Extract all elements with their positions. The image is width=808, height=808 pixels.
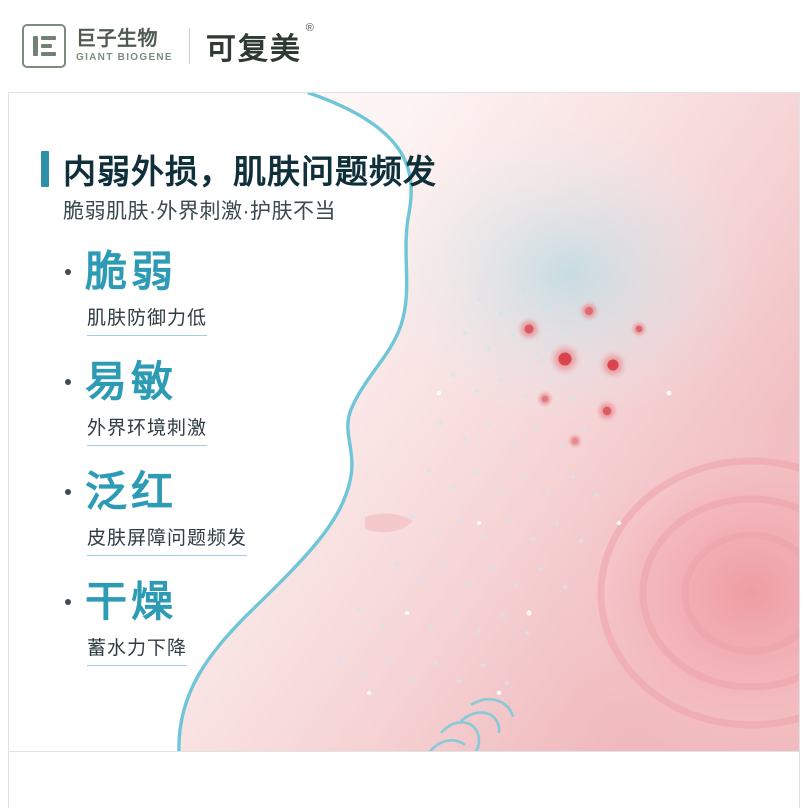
subheadline: 脆弱肌肤·外界刺激·护肤不当 <box>63 195 336 225</box>
list-item: 易敏 外界环境刺激 <box>63 361 483 443</box>
bullet-dot-icon <box>65 599 71 605</box>
bullet-dot-icon <box>65 269 71 275</box>
list-item-desc: 皮肤屏障问题频发 <box>87 523 247 556</box>
list-item: 脆弱 肌肤防御力低 <box>63 251 483 333</box>
trademark-symbol: ® <box>306 22 316 34</box>
list-item-title: 脆弱 <box>85 247 177 297</box>
list-item: 泛红 皮肤屏障问题频发 <box>63 471 483 553</box>
company-name-en: GIANT BIOGENE <box>76 53 173 63</box>
list-item: 干燥 蓄水力下降 <box>63 581 483 663</box>
company-name: 巨子生物 GIANT BIOGENE <box>76 29 173 63</box>
bullet-dot-icon <box>65 379 71 385</box>
poster-root: 巨子生物 GIANT BIOGENE 可复美 ® <box>0 0 808 808</box>
headline: 内弱外损，肌肤问题频发 <box>63 145 437 193</box>
product-brand-name-text: 可复美 <box>206 33 302 66</box>
list-item-desc: 外界环境刺激 <box>87 413 207 446</box>
list-item-title: 干燥 <box>85 577 177 627</box>
list-item-desc: 蓄水力下降 <box>87 633 187 666</box>
company-name-cn: 巨子生物 <box>76 29 173 49</box>
brand-lockup: 巨子生物 GIANT BIOGENE 可复美 ® <box>22 22 302 70</box>
brand-divider <box>189 28 190 64</box>
headline-row: 内弱外损，肌肤问题频发 <box>41 145 437 193</box>
content-frame-bottom-edge <box>8 752 800 808</box>
headline-accent-bar <box>41 151 49 187</box>
problem-list: 脆弱 肌肤防御力低 易敏 外界环境刺激 泛红 皮肤屏障问题频发 干燥 蓄水力下降 <box>63 251 483 691</box>
list-item-title: 易敏 <box>85 357 177 407</box>
list-item-title: 泛红 <box>85 467 177 517</box>
content-frame: 内弱外损，肌肤问题频发 脆弱肌肤·外界刺激·护肤不当 脆弱 肌肤防御力低 易敏 … <box>8 92 800 752</box>
giant-biogene-logo-mark-icon <box>22 24 66 68</box>
text-content: 内弱外损，肌肤问题频发 脆弱肌肤·外界刺激·护肤不当 脆弱 肌肤防御力低 易敏 … <box>9 93 509 752</box>
product-brand-name: 可复美 ® <box>206 24 302 68</box>
list-item-desc: 肌肤防御力低 <box>87 303 207 336</box>
brand-header: 巨子生物 GIANT BIOGENE 可复美 ® <box>0 0 808 92</box>
bullet-dot-icon <box>65 489 71 495</box>
